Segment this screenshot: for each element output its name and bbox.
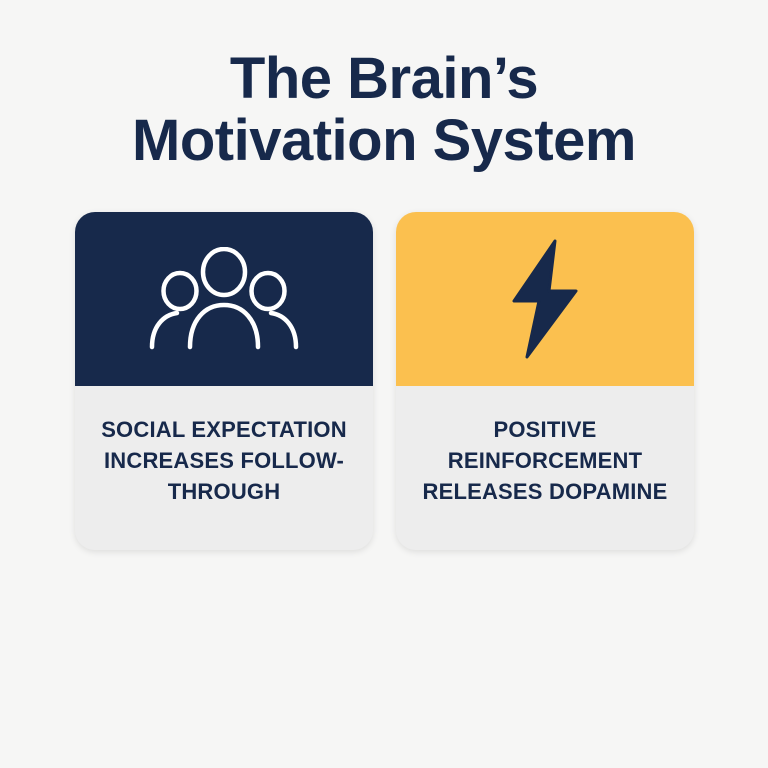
card-body-social: SOCIAL EXPECTATION INCREASES FOLLOW-THRO… xyxy=(75,386,373,550)
card-positive-reinforcement[interactable]: POSITIVE REINFORCEMENT RELEASES DOPAMINE xyxy=(396,212,694,550)
lightning-bolt-icon xyxy=(508,239,582,359)
card-caption-positive: POSITIVE REINFORCEMENT RELEASES DOPAMINE xyxy=(396,414,694,507)
card-row: SOCIAL EXPECTATION INCREASES FOLLOW-THRO… xyxy=(75,212,694,550)
card-body-positive: POSITIVE REINFORCEMENT RELEASES DOPAMINE xyxy=(396,386,694,550)
card-caption-social: SOCIAL EXPECTATION INCREASES FOLLOW-THRO… xyxy=(75,414,373,507)
card-icon-header-yellow xyxy=(396,212,694,386)
page-title-line-2: Motivation System xyxy=(0,110,768,172)
page-title-line-1: The Brain’s xyxy=(0,48,768,110)
card-icon-header-navy xyxy=(75,212,373,386)
card-social-expectation[interactable]: SOCIAL EXPECTATION INCREASES FOLLOW-THRO… xyxy=(75,212,373,550)
people-group-icon xyxy=(149,247,299,351)
page-title: The Brain’s Motivation System xyxy=(0,48,768,172)
